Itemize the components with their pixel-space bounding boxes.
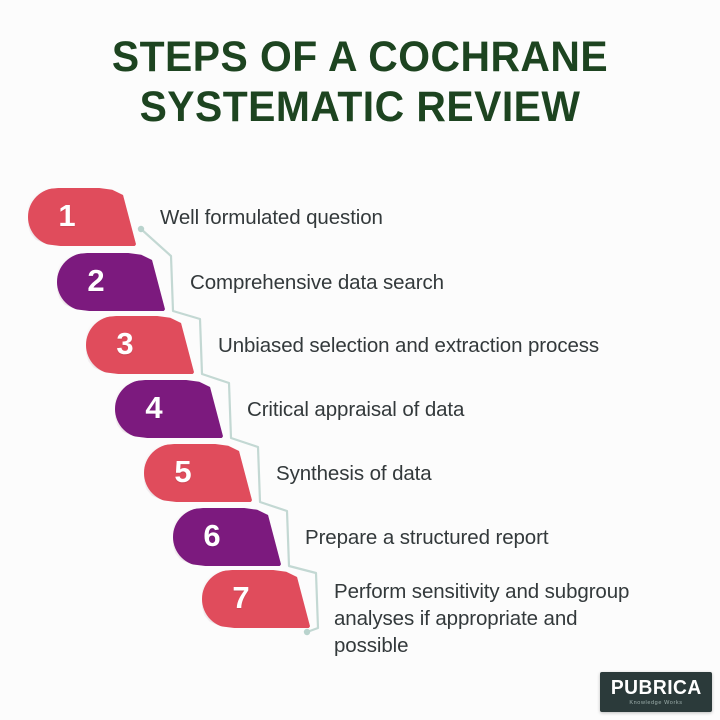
logo-tagline: Knowledge Works bbox=[629, 699, 682, 707]
pubrica-logo[interactable]: PUBRICA Knowledge Works bbox=[600, 672, 712, 712]
step-number-1: 1 bbox=[50, 188, 84, 246]
step-label-7: Perform sensitivity and subgroup analyse… bbox=[334, 578, 629, 659]
step-label-3: Unbiased selection and extraction proces… bbox=[218, 332, 599, 359]
step-label-4: Critical appraisal of data bbox=[247, 396, 464, 423]
step-number-6: 6 bbox=[195, 508, 229, 566]
step-number-4: 4 bbox=[137, 380, 171, 438]
step-number-2: 2 bbox=[79, 253, 113, 311]
step-number-5: 5 bbox=[166, 444, 200, 502]
step-label-1: Well formulated question bbox=[160, 204, 383, 231]
steps-list: 1Well formulated question2Comprehensive … bbox=[0, 0, 720, 720]
infographic-canvas: STEPS OF A COCHRANE SYSTEMATIC REVIEW 1W… bbox=[0, 0, 720, 720]
step-label-5: Synthesis of data bbox=[276, 460, 432, 487]
logo-wordmark: PUBRICA bbox=[611, 678, 702, 698]
step-label-2: Comprehensive data search bbox=[190, 269, 444, 296]
step-number-3: 3 bbox=[108, 316, 142, 374]
step-number-7: 7 bbox=[224, 570, 258, 628]
step-row: 7Perform sensitivity and subgroup analys… bbox=[0, 0, 720, 60]
step-label-6: Prepare a structured report bbox=[305, 524, 548, 551]
